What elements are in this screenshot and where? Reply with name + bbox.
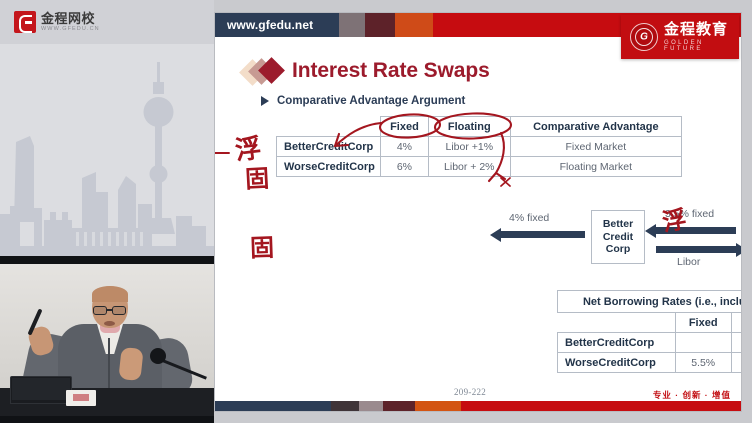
diamond-bullet-icon <box>243 58 283 84</box>
header-blank <box>558 313 676 333</box>
botbar-red <box>461 401 742 411</box>
glasses-right-lens-icon <box>112 306 126 315</box>
footer-tagline: 专业 · 创新 · 增值 <box>653 389 731 401</box>
header-floating: Floating <box>428 117 510 137</box>
left-video-panel: 金程网校 WWW.GFEDU.CN <box>0 0 214 423</box>
microphone-icon <box>150 348 166 364</box>
handwriting-fu-right: 浮 <box>659 199 689 238</box>
header-comparative-advantage: Comparative Advantage <box>510 117 681 137</box>
table-row: BetterCreditCorp Libor + 0.5% <box>558 333 743 353</box>
arrow-libor <box>656 246 736 253</box>
colorbar-orange <box>395 13 433 37</box>
cell-fixed: 5.5% <box>675 353 731 373</box>
table-header-row: Fixed Floating Comparative Advantage <box>277 117 682 137</box>
table-row: WorseCreditCorp 6% Libor + 2% Floating M… <box>277 157 682 177</box>
botbar-orange <box>415 401 461 411</box>
desk-name-card-logo <box>73 394 89 401</box>
cell-name: BetterCreditCorp <box>558 333 676 353</box>
cell-fixed: 6% <box>380 157 428 177</box>
cell-name: WorseCreditCorp <box>558 353 676 373</box>
label-libor: Libor <box>677 256 700 268</box>
handwriting-gu-left: 固 <box>244 158 270 194</box>
box-line-1: Better <box>603 218 633 231</box>
shanghai-skyline-watermark <box>0 44 214 256</box>
instructor-mouth <box>104 321 115 326</box>
slide-subtitle: Comparative Advantage Argument <box>277 95 465 107</box>
site-url-block: www.gfedu.net <box>215 13 339 37</box>
badge-text: 金程教育 GOLDEN FUTURE <box>664 22 739 52</box>
site-url: www.gfedu.net <box>227 18 313 32</box>
header-fixed: Fixed <box>380 117 428 137</box>
slide-title-row: Interest Rate Swaps <box>243 58 490 84</box>
brand-url: WWW.GFEDU.CN <box>41 27 100 33</box>
net-table-title: Net Borrowing Rates (i.e., including swa… <box>558 291 743 313</box>
box-line-3: Corp <box>606 243 631 256</box>
cell-floating: Libor + 0.5% <box>731 333 742 353</box>
cell-advantage: Floating Market <box>510 157 681 177</box>
cell-name: WorseCreditCorp <box>277 157 381 177</box>
gfedu-logo-badge: G 金程教育 GOLDEN FUTURE <box>621 15 739 59</box>
table-row: WorseCreditCorp 5.5% <box>558 353 743 373</box>
comparative-advantage-table: Fixed Floating Comparative Advantage Bet… <box>276 116 682 177</box>
presentation-slide: www.gfedu.net G 金程教育 GOLDEN FUTURE Inter… <box>214 12 742 412</box>
badge-name-cn: 金程教育 <box>664 22 739 37</box>
brand-text: 金程网校 WWW.GFEDU.CN <box>41 12 100 33</box>
cell-floating <box>731 353 742 373</box>
better-credit-corp-box: Better Credit Corp <box>591 210 645 264</box>
page-number: 209-222 <box>454 387 486 397</box>
laptop-screen <box>12 378 70 400</box>
instructor-right-hand <box>118 347 143 381</box>
arrow-bullet-icon <box>261 96 269 106</box>
gf-logo-icon <box>14 11 36 33</box>
instructor-hair <box>92 286 128 302</box>
table-row: BetterCreditCorp 4% Libor +1% Fixed Mark… <box>277 137 682 157</box>
slide-bottom-colorbar <box>215 401 742 411</box>
brand-name-cn: 金程网校 <box>41 12 100 25</box>
table-title-row: Net Borrowing Rates (i.e., including swa… <box>558 291 743 313</box>
seal-letter: G <box>640 32 648 43</box>
seal-icon: G <box>630 23 658 51</box>
colorbar-maroon <box>365 13 395 37</box>
box-line-2: Credit <box>603 231 633 244</box>
arrow-4pct-fixed-out <box>501 231 585 238</box>
page-title: Interest Rate Swaps <box>292 59 490 83</box>
slide-subtitle-row: Comparative Advantage Argument <box>261 95 465 107</box>
botbar-navy <box>215 401 331 411</box>
header-fixed: Fixed <box>675 313 731 333</box>
botbar-maroon <box>383 401 415 411</box>
table-header-row: Fixed Floating <box>558 313 743 333</box>
badge-name-en: GOLDEN FUTURE <box>664 40 739 52</box>
cell-name: BetterCreditCorp <box>277 137 381 157</box>
cell-fixed: 4% <box>380 137 428 157</box>
handwriting-gu-lower: 固 <box>249 228 274 264</box>
label-4pct-fixed: 4% fixed <box>509 212 549 224</box>
brand-bar: 金程网校 WWW.GFEDU.CN <box>0 0 214 44</box>
video-frame <box>0 264 214 416</box>
glasses-left-lens-icon <box>93 306 107 315</box>
botbar-gray <box>359 401 383 411</box>
ink-mark-worse-row <box>501 178 510 186</box>
botbar-dark <box>331 401 359 411</box>
cell-fixed <box>675 333 731 353</box>
net-borrowing-rates-table: Net Borrowing Rates (i.e., including swa… <box>557 290 742 373</box>
cell-floating: Libor + 2% <box>428 157 510 177</box>
header-floating: Floating <box>731 313 742 333</box>
colorbar-gray <box>339 13 365 37</box>
cell-floating: Libor +1% <box>428 137 510 157</box>
glasses-bridge <box>107 309 112 311</box>
instructor-video-feed <box>0 256 214 423</box>
header-blank <box>277 117 381 137</box>
cell-advantage: Fixed Market <box>510 137 681 157</box>
